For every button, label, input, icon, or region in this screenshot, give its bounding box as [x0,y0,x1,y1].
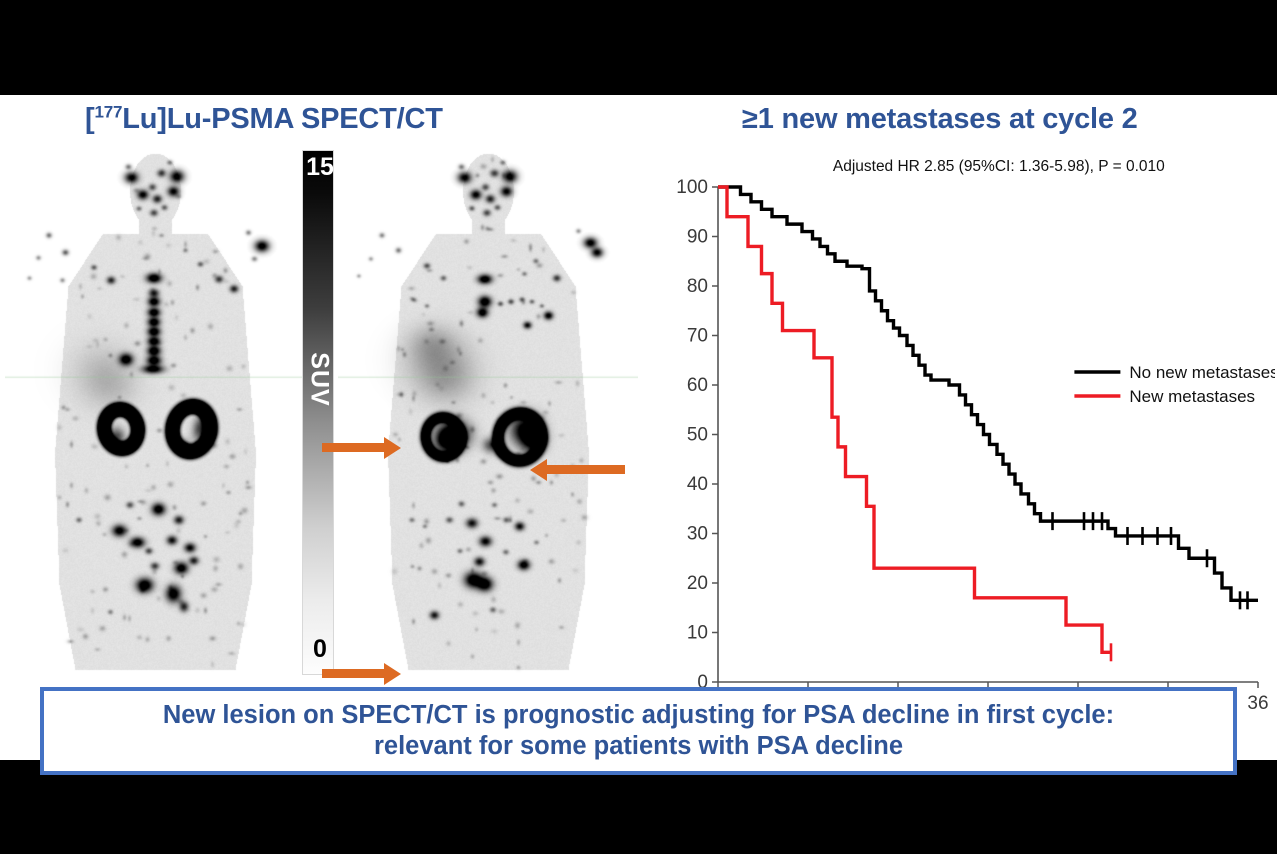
panel-title-spect: [177Lu]Lu-PSMA SPECT/CT [85,103,443,136]
banner-line-2: relevant for some patients with PSA decl… [374,732,903,760]
arrow-lower-left-lesion-shaft [322,669,384,678]
arrow-upper-right-lesion-shaft [547,465,625,474]
y-tick-label: 80 [687,276,708,297]
y-tick-label: 90 [687,227,708,248]
y-tick-label: 40 [687,474,708,495]
y-tick-label: 10 [687,623,708,644]
panel-title-spect-rest: Lu]Lu-PSMA SPECT/CT [122,103,443,135]
arrow-upper-left-lesion-shaft [322,443,384,452]
y-tick-label: 70 [687,326,708,347]
y-tick-label: 20 [687,573,708,594]
chart-annotation-hr: Adjusted HR 2.85 (95%CI: 1.36-5.98), P =… [833,158,1165,175]
colorbar-axis-label: SUV [305,350,334,410]
y-tick-label: 30 [687,524,708,545]
y-tick-label: 50 [687,425,708,446]
slide-content: [177Lu]Lu-PSMA SPECT/CT ≥1 new metastase… [0,95,1277,760]
colorbar-min-label: 0 [305,635,335,664]
x-tick-label: 36 [1247,693,1268,714]
panel-title-metastases: ≥1 new metastases at cycle 2 [742,103,1138,136]
letterbox-bar-top [0,0,1277,95]
arrow-lower-left-lesion-head [384,663,401,685]
conclusion-banner: New lesion on SPECT/CT is prognostic adj… [40,687,1237,775]
spect-mip-image-baseline [5,145,305,680]
suv-colorbar [302,150,334,675]
conclusion-banner-text: New lesion on SPECT/CT is prognostic adj… [149,700,1128,762]
spect-scan-baseline [5,145,305,680]
arrow-upper-left-lesion-head [384,437,401,459]
legend-label-0: No new metastases [1129,363,1275,382]
colorbar-max-label: 15 [305,153,335,182]
km-curve-1 [718,187,1111,652]
kaplan-meier-svg: Adjusted HR 2.85 (95%CI: 1.36-5.98), P =… [660,145,1275,760]
y-tick-label: 60 [687,375,708,396]
arrow-upper-right-lesion-head [530,459,547,481]
banner-line-1: New lesion on SPECT/CT is prognostic adj… [163,701,1114,729]
kaplan-meier-chart: Adjusted HR 2.85 (95%CI: 1.36-5.98), P =… [660,145,1275,760]
spect-mip-image-cycle2 [338,145,638,680]
isotope-mass-number: 177 [94,102,122,121]
y-tick-label: 100 [676,177,708,198]
legend-label-1: New metastases [1129,387,1255,406]
spect-scan-cycle2 [338,145,638,680]
